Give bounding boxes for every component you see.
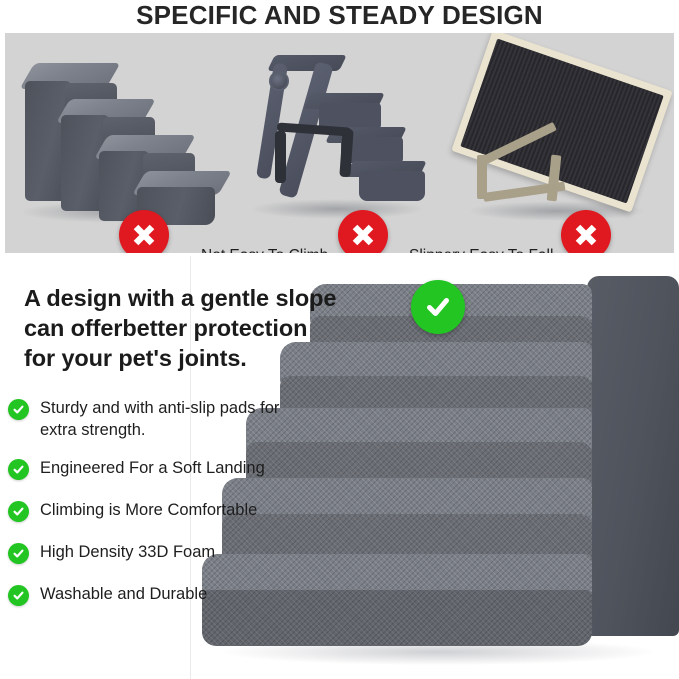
check-glyph bbox=[12, 547, 25, 560]
headline: A design with a gentle slope can offerbe… bbox=[24, 283, 344, 373]
foam-step-stairs-image bbox=[13, 51, 225, 226]
x-icon bbox=[573, 222, 599, 248]
x-badge bbox=[338, 210, 388, 253]
hinge-knob-icon bbox=[269, 71, 289, 91]
headline-line-1: A design with a gentle slope bbox=[24, 283, 344, 313]
negative-example-1: Not Easy To Climb bbox=[5, 33, 233, 253]
ramp-carpet-surface bbox=[460, 38, 664, 203]
check-glyph bbox=[12, 589, 25, 602]
feature-text-line-1: Sturdy and with anti-slip pads for bbox=[40, 399, 279, 417]
feature-text-line-1: Washable and Durable bbox=[40, 585, 207, 603]
check-icon bbox=[423, 292, 453, 322]
infographic-page: SPECIFIC AND STEADY DESIGN bbox=[0, 0, 679, 679]
headline-line-3: for your pet's joints. bbox=[24, 343, 344, 373]
dog-illustration bbox=[472, 668, 677, 679]
negative-example-3 bbox=[447, 33, 674, 253]
check-icon bbox=[8, 543, 29, 564]
feature-text-line-1: Climbing is More Comfortable bbox=[40, 501, 257, 519]
stairs-back-panel bbox=[587, 276, 679, 636]
beagle-dog-with-bandaged-paw bbox=[472, 668, 677, 679]
feature-list: Sturdy and with anti-slip pads for extra… bbox=[8, 398, 338, 626]
check-glyph bbox=[12, 505, 25, 518]
negative-example-2: Slippery Easy To Fall bbox=[233, 33, 447, 253]
negative-examples-panel: Not Easy To Climb bbox=[5, 33, 674, 253]
feature-item: Sturdy and with anti-slip pads for extra… bbox=[8, 398, 338, 442]
positive-product-panel: A design with a gentle slope can offerbe… bbox=[0, 256, 679, 679]
plastic-folding-stairs-image bbox=[245, 47, 435, 227]
x-icon bbox=[131, 222, 157, 248]
check-icon bbox=[8, 501, 29, 522]
headline-line-2: can offerbetter protection bbox=[24, 313, 344, 343]
feature-item: High Density 33D Foam bbox=[8, 542, 338, 568]
stair-base bbox=[359, 171, 425, 201]
check-icon bbox=[8, 459, 29, 480]
check-glyph bbox=[12, 403, 25, 416]
x-badge bbox=[561, 210, 611, 253]
feature-item: Climbing is More Comfortable bbox=[8, 500, 338, 526]
feature-item: Engineered For a Soft Landing bbox=[8, 458, 338, 484]
product-shadow bbox=[249, 199, 425, 219]
page-header: SPECIFIC AND STEADY DESIGN bbox=[0, 0, 679, 31]
check-icon bbox=[8, 585, 29, 606]
x-icon bbox=[350, 222, 376, 248]
feature-text-line-1: Engineered For a Soft Landing bbox=[40, 459, 265, 477]
feature-item: Washable and Durable bbox=[8, 584, 338, 610]
check-badge bbox=[411, 280, 465, 334]
wooden-carpet-ramp-image bbox=[453, 51, 668, 231]
negative-examples-row: Not Easy To Climb bbox=[5, 33, 674, 253]
cross-brace-leg bbox=[275, 131, 286, 183]
check-icon bbox=[8, 399, 29, 420]
feature-text-line-2: extra strength. bbox=[40, 421, 145, 439]
page-title: SPECIFIC AND STEADY DESIGN bbox=[136, 0, 543, 31]
x-badge bbox=[119, 210, 169, 253]
feature-text-line-1: High Density 33D Foam bbox=[40, 543, 215, 561]
check-glyph bbox=[12, 463, 25, 476]
